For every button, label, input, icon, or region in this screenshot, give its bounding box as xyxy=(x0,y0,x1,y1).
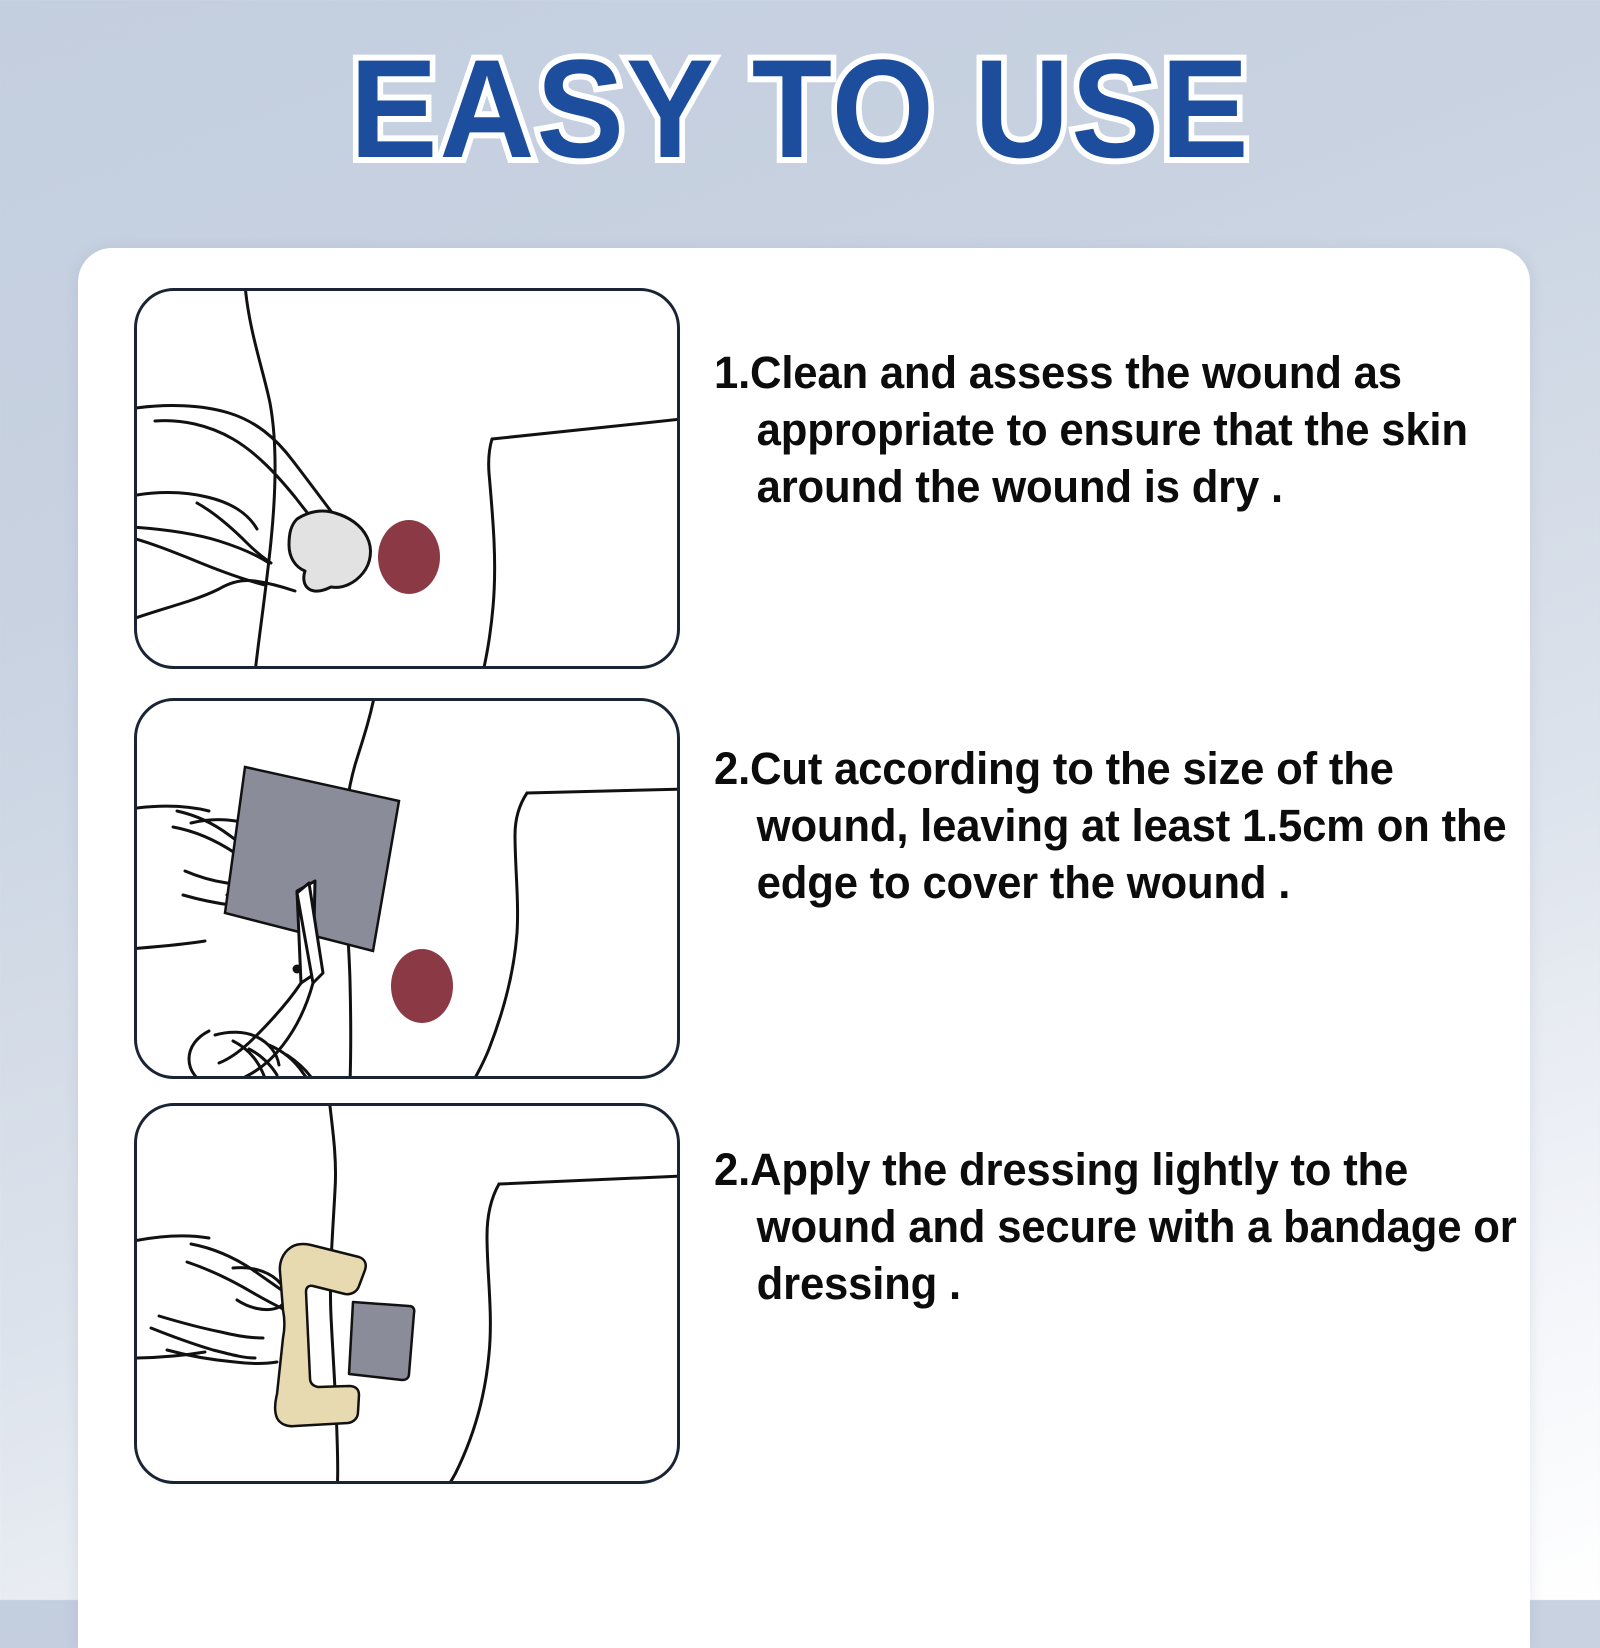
header: EASY TO USE xyxy=(0,34,1600,184)
step-row-3: 2.Apply the dressing lightly to the woun… xyxy=(78,1103,1548,1484)
step-3-text: 2.Apply the dressing lightly to the woun… xyxy=(714,1141,1523,1312)
step-2-text: 2.Cut according to the size of the wound… xyxy=(714,740,1523,911)
illustration-panel-clean-wound-with-swab xyxy=(134,288,680,669)
illustration-panel-apply-dressing-and-bandage xyxy=(134,1103,680,1484)
page-title: EASY TO USE xyxy=(350,39,1251,179)
step-row-2: 2.Cut according to the size of the wound… xyxy=(78,698,1548,1079)
step-row-1: 1.Clean and assess the wound as appropri… xyxy=(78,288,1548,669)
illustration-panel-cut-dressing-with-scissors xyxy=(134,698,680,1079)
wound-mark xyxy=(391,949,453,1023)
instructions-card: 1.Clean and assess the wound as appropri… xyxy=(78,248,1530,1648)
wound-mark xyxy=(378,520,440,594)
gauze-swab-shape xyxy=(289,511,370,591)
gray-dressing-pad xyxy=(349,1302,414,1380)
step-1-text: 1.Clean and assess the wound as appropri… xyxy=(714,344,1523,515)
